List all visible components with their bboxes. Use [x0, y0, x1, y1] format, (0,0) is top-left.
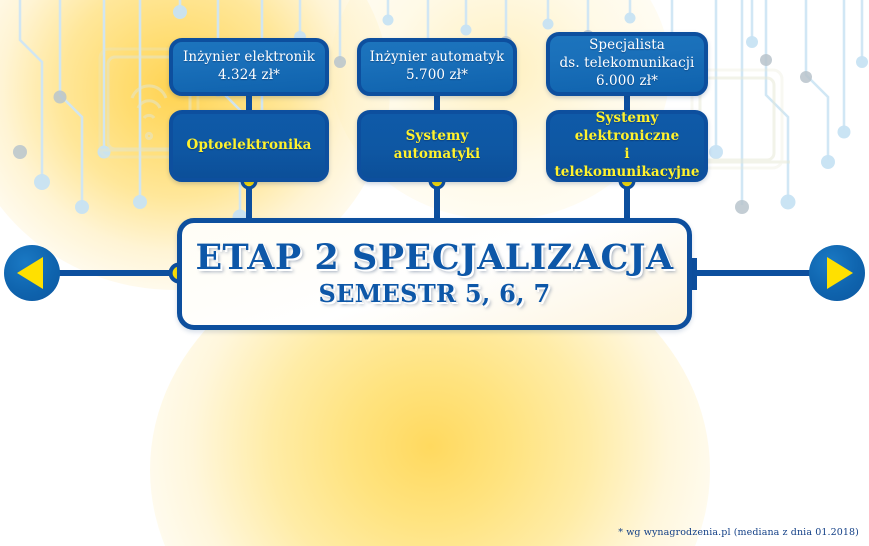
- job-card-2-label: Inżynier automatyk 5.700 zł*: [364, 49, 511, 85]
- job-card-1[interactable]: Inżynier elektronik 4.324 zł*: [169, 38, 329, 96]
- job-card-2[interactable]: Inżynier automatyk 5.700 zł*: [357, 38, 517, 96]
- prev-stage-button[interactable]: [4, 245, 60, 301]
- specialization-card-1-label: Optoelektronika: [181, 137, 318, 155]
- specialization-card-3[interactable]: Systemy elektroniczne i telekomunikacyjn…: [546, 110, 708, 182]
- specialization-card-1[interactable]: Optoelektronika: [169, 110, 329, 182]
- specialization-card-3-label: Systemy elektroniczne i telekomunikacyjn…: [548, 110, 705, 181]
- stage-banner[interactable]: ETAP 2 SPECJALIZACJA SEMESTR 5, 6, 7: [177, 218, 692, 330]
- specialization-card-2-label: Systemy automatyki: [388, 128, 486, 164]
- next-stage-button[interactable]: [809, 245, 865, 301]
- salary-source-footnote: * wg wynagrodzenia.pl (mediana z dnia 01…: [618, 527, 859, 538]
- triangle-right-icon: [827, 257, 853, 289]
- infographic-canvas: Inżynier elektronik 4.324 zł* Optoelektr…: [0, 0, 869, 546]
- job-card-3[interactable]: Specjalista ds. telekomunikacji 6.000 zł…: [546, 32, 708, 96]
- job-card-1-label: Inżynier elektronik 4.324 zł*: [177, 49, 321, 85]
- job-card-3-label: Specjalista ds. telekomunikacji 6.000 zł…: [554, 37, 701, 90]
- banner-title: ETAP 2 SPECJALIZACJA: [195, 240, 673, 277]
- triangle-left-icon: [17, 257, 43, 289]
- banner-subtitle: SEMESTR 5, 6, 7: [319, 279, 551, 308]
- specialization-card-2[interactable]: Systemy automatyki: [357, 110, 517, 182]
